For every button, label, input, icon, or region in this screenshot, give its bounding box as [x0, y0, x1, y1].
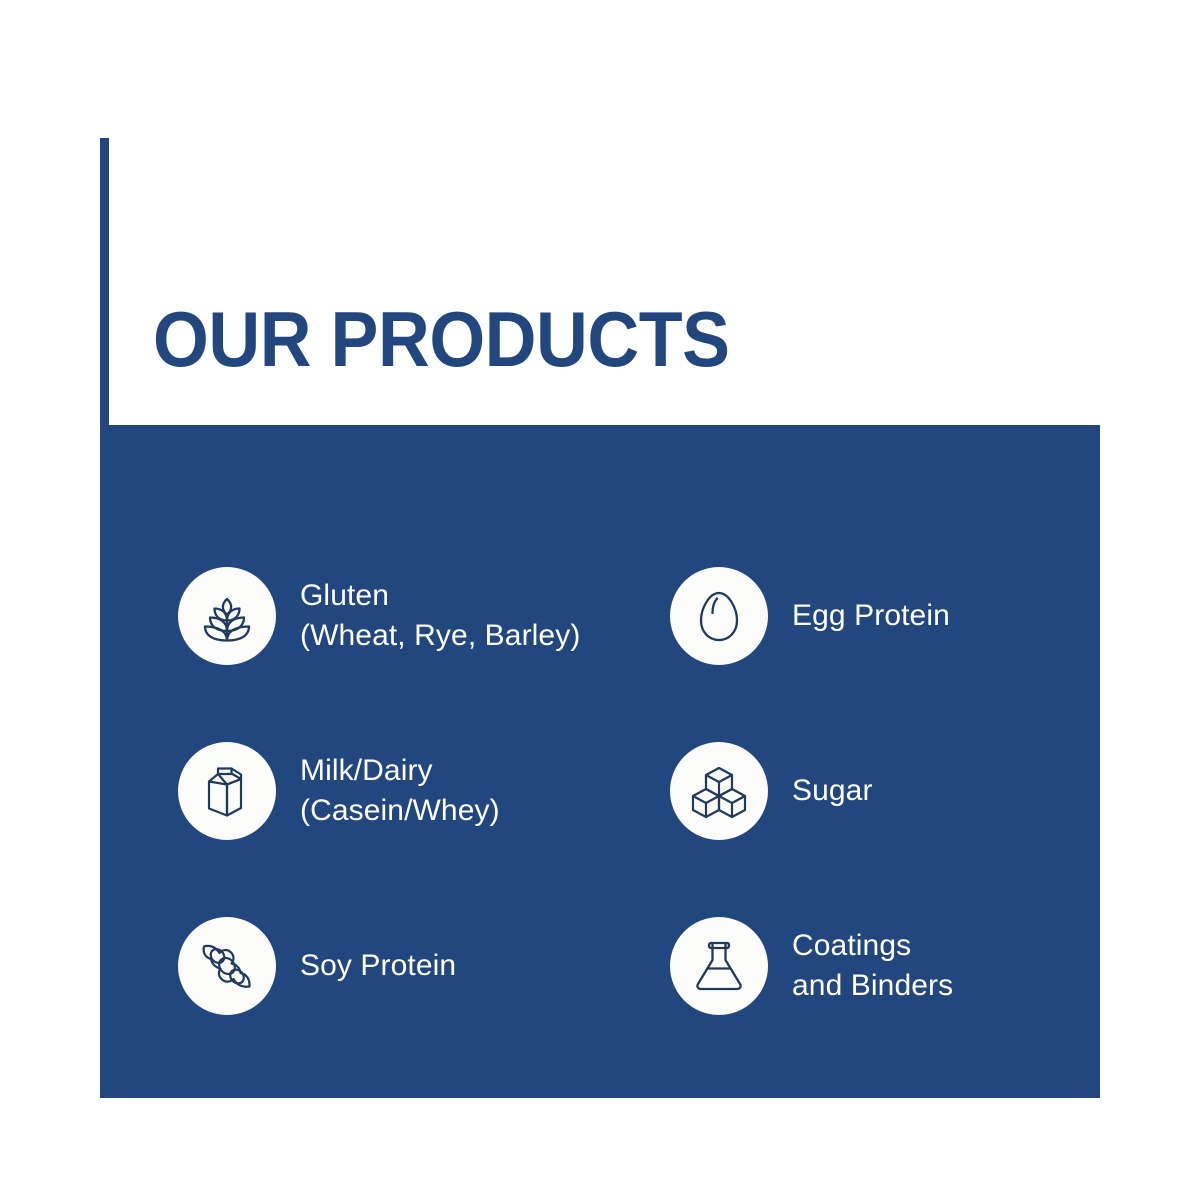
page-title-line-1: OUR PRODUCTS: [153, 299, 730, 379]
flask-icon: [670, 917, 768, 1015]
list-item-label: Coatings and Binders: [792, 926, 953, 1005]
list-item-milk-dairy: Milk/Dairy (Casein/Whey): [178, 703, 670, 878]
list-item-label: Milk/Dairy (Casein/Whey): [300, 751, 500, 830]
list-item-label: Sugar: [792, 771, 873, 811]
list-item-label: Soy Protein: [300, 946, 456, 986]
free-of-list: Gluten (Wheat, Rye, Barley) Egg Protein: [178, 528, 1078, 1053]
sugar-cubes-icon: [670, 742, 768, 840]
list-item-soy-protein: Soy Protein: [178, 878, 670, 1053]
milk-carton-icon: [178, 742, 276, 840]
list-item-egg-protein: Egg Protein: [670, 528, 1078, 703]
list-item-coatings-and-binders: Coatings and Binders: [670, 878, 1078, 1053]
list-item-sugar: Sugar: [670, 703, 1078, 878]
wheat-icon: [178, 567, 276, 665]
soybean-pod-icon: [178, 917, 276, 1015]
list-item-label: Egg Protein: [792, 596, 950, 636]
egg-icon: [670, 567, 768, 665]
list-item-label: Gluten (Wheat, Rye, Barley): [300, 576, 580, 655]
list-item-gluten: Gluten (Wheat, Rye, Barley): [178, 528, 670, 703]
free-of-panel: Gluten (Wheat, Rye, Barley) Egg Protein: [100, 425, 1100, 1098]
